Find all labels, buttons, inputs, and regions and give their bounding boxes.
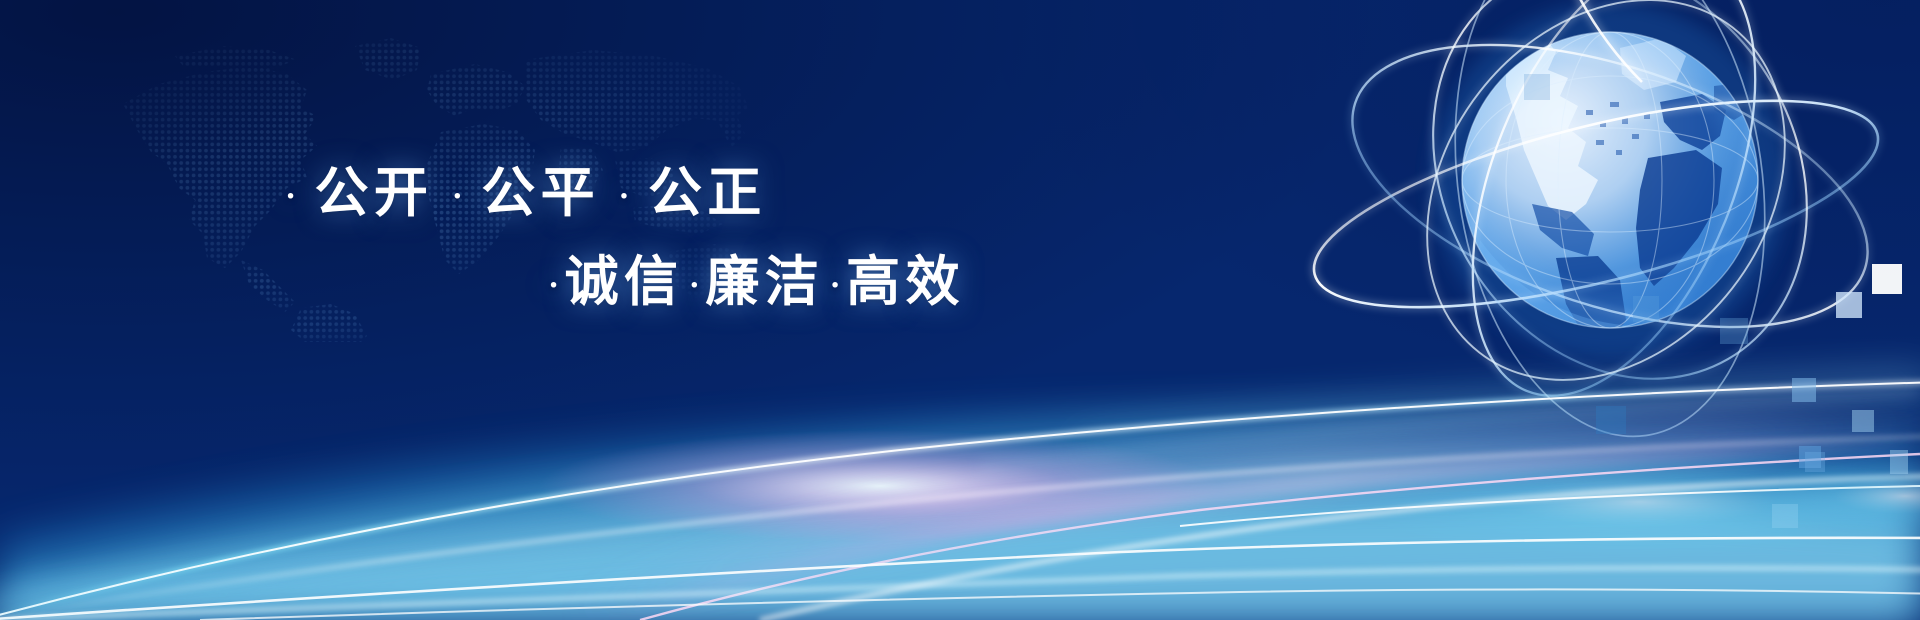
headline-block: ·公开·公平·公正 ·诚信·廉洁·高效 <box>0 0 1150 360</box>
headline-word-lianjie: 廉洁 <box>705 237 824 316</box>
bullet-separator: · <box>548 267 559 305</box>
headline-line-2: ·诚信·廉洁·高效 <box>548 237 965 316</box>
headline-word-chengxin: 诚信 <box>565 237 684 316</box>
headline-line-1: ·公开·公平·公正 <box>285 148 767 227</box>
headline-word-gongzheng: 公正 <box>648 148 767 227</box>
bullet-separator: · <box>285 178 296 216</box>
headline-word-gongping: 公平 <box>481 148 600 227</box>
bullet-separator: · <box>830 267 841 305</box>
bullet-separator: · <box>618 178 629 216</box>
headline-word-gaoxiao: 高效 <box>846 237 965 316</box>
headline-word-gongkai: 公开 <box>315 148 434 227</box>
banner-root: ·公开·公平·公正 ·诚信·廉洁·高效 <box>0 0 1920 620</box>
bullet-separator: · <box>452 178 463 216</box>
bullet-separator: · <box>689 267 700 305</box>
